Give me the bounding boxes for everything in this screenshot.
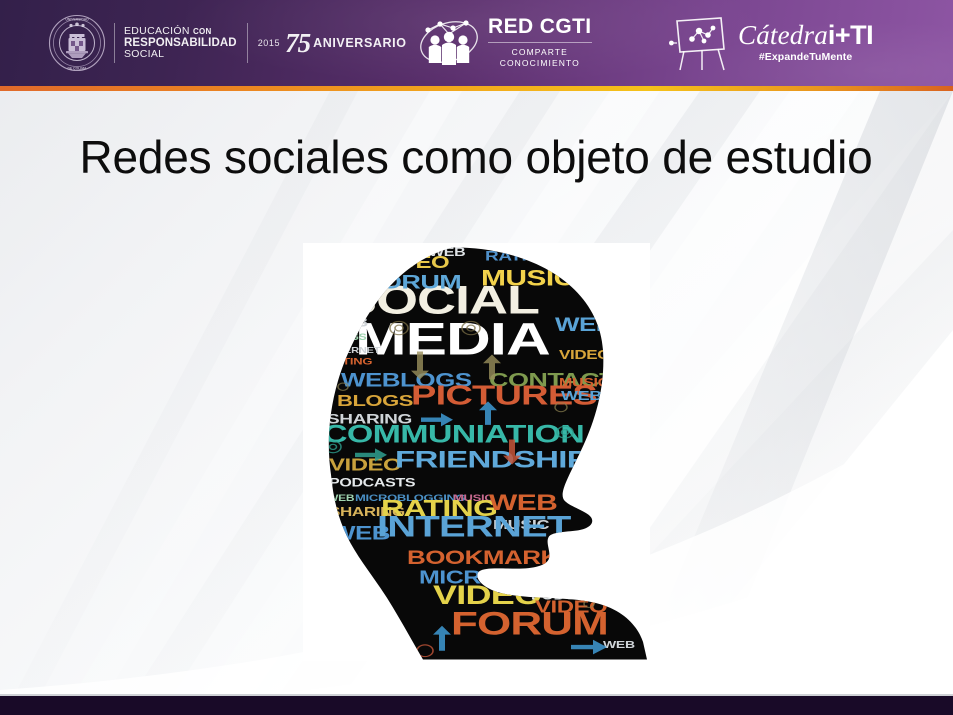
udec-slogan-text: EDUCACIÓN CON RESPONSABILIDAD SOCIAL: [124, 26, 237, 60]
svg-text:UNIVERSIDAD: UNIVERSIDAD: [65, 18, 89, 22]
university-seal-icon: UNIVERSIDAD DE COLIMA: [48, 14, 106, 72]
word-cloud-word: PODCASTS: [329, 476, 415, 489]
social-media-word-cloud-head: SOCIALMEDIAMUSICFORUMVIDEOWEBRATINGBOOKM…: [303, 243, 650, 661]
udec-line3: SOCIAL: [124, 49, 237, 60]
word-cloud-word: VIDEO: [329, 455, 401, 474]
word-cloud-word: INTERNET: [377, 510, 572, 543]
header-accent-rule: [0, 86, 953, 91]
catedra-title-script: Cátedra: [738, 20, 828, 50]
anniversary-year: 2015: [258, 38, 280, 48]
word-cloud-word: BLOGS: [337, 392, 414, 410]
presentation-slide: UNIVERSIDAD DE COLIMA EDUCACIÓN CON RESP…: [0, 0, 953, 715]
udec-line1-small: CON: [193, 27, 212, 36]
word-cloud-word: VIDEO: [559, 349, 610, 362]
header-logo-row: UNIVERSIDAD DE COLIMA EDUCACIÓN CON RESP…: [0, 0, 953, 86]
anniversary-badge: 2015 75 ANIVERSARIO: [258, 30, 407, 57]
logo-catedra-iti: Cátedrai+TI #ExpandeTuMente: [668, 10, 873, 74]
catedra-text-block: Cátedrai+TI #ExpandeTuMente: [738, 21, 873, 63]
footer-bar: [0, 696, 953, 715]
word-cloud-word: FRIENDSHIP: [395, 446, 588, 473]
word-cloud-word: FORUM: [451, 606, 608, 642]
network-people-icon: [418, 15, 480, 69]
catedra-hashtag: #ExpandeTuMente: [738, 51, 873, 63]
word-cloud-word: MEDIA: [355, 313, 550, 364]
easel-network-icon: [668, 13, 732, 71]
logo-divider-1: [114, 23, 115, 63]
cgti-text-block: RED CGTI COMPARTE CONOCIMIENTO: [488, 16, 592, 68]
catedra-title: Cátedrai+TI: [738, 21, 873, 49]
logo-red-cgti: RED CGTI COMPARTE CONOCIMIENTO: [418, 12, 592, 72]
cgti-subtitle-line1: COMPARTE: [488, 47, 592, 58]
word-cloud-word: WEB: [603, 639, 635, 651]
svg-text:DE COLIMA: DE COLIMA: [67, 66, 87, 70]
logo-universidad-de-colima: UNIVERSIDAD DE COLIMA EDUCACIÓN CON RESP…: [48, 12, 407, 74]
cgti-title: RED CGTI: [488, 16, 592, 38]
word-cloud-word: WEB: [561, 389, 602, 403]
cgti-rule: [488, 42, 592, 43]
anniversary-word: ANIVERSARIO: [313, 36, 406, 50]
word-cloud-word: COMMUNIATION: [323, 421, 584, 449]
page-title: Redes sociales como objeto de estudio: [76, 129, 876, 185]
logo-divider-2: [247, 23, 248, 63]
cgti-subtitle-line2: CONOCIMIENTO: [488, 58, 592, 69]
udec-line1-main: EDUCACIÓN: [124, 25, 190, 37]
anniversary-number: 75: [285, 30, 310, 57]
catedra-title-mark: i+TI: [828, 20, 873, 50]
